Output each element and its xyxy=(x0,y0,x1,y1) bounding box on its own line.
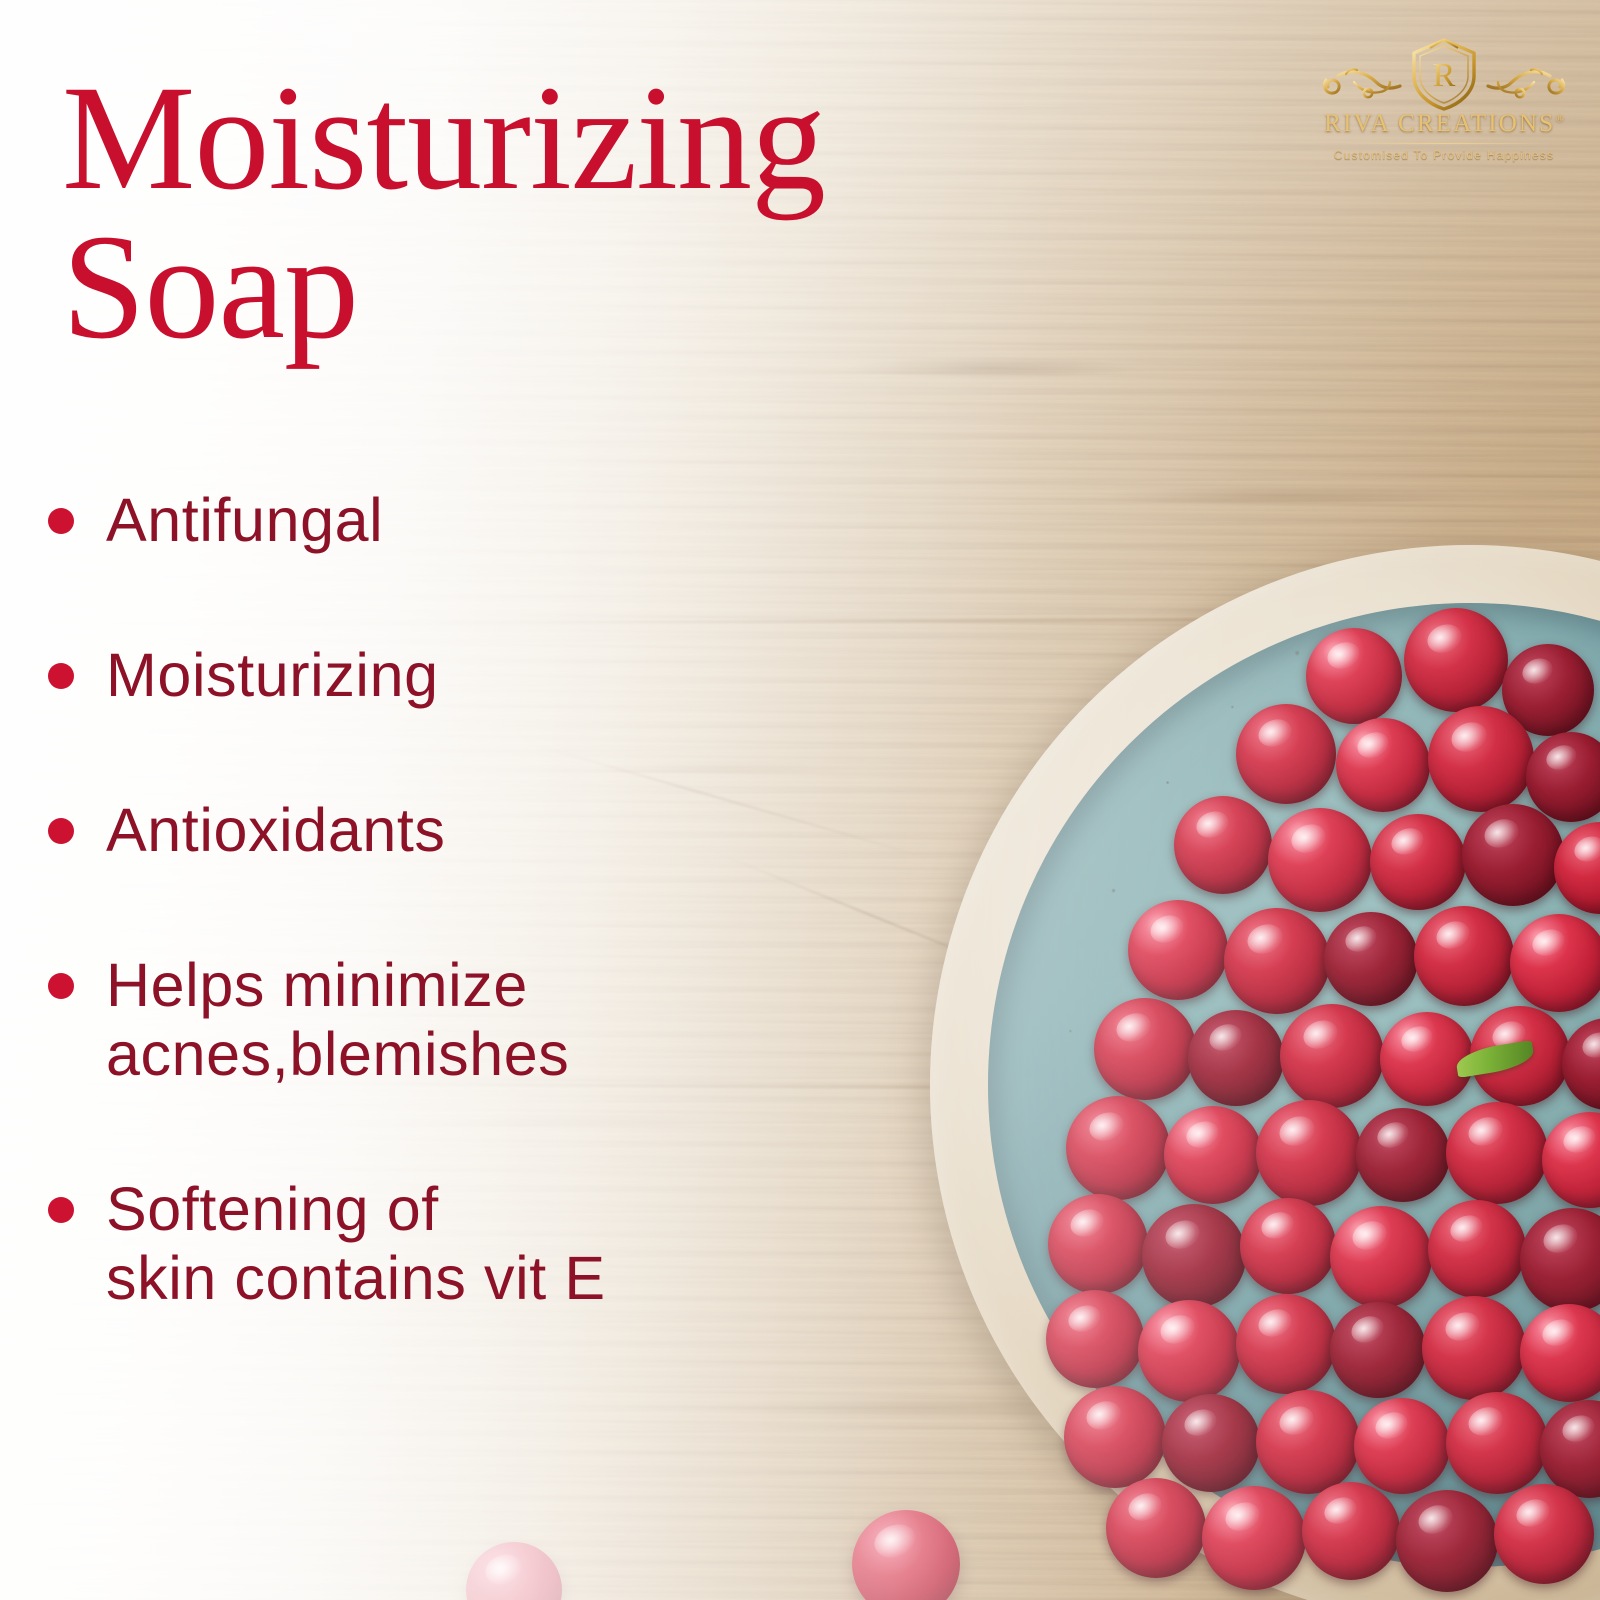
bullet-dot-icon xyxy=(48,508,74,534)
registered-trademark-icon: ® xyxy=(1555,113,1563,125)
page-title: Moisturizing Soap xyxy=(62,64,942,361)
logo-divider xyxy=(1338,143,1550,144)
benefit-item-acne: Helps minimize acnes,blemishes xyxy=(34,951,754,1089)
ornament-flourish-left xyxy=(1320,62,1406,106)
logo-monogram: R xyxy=(1433,57,1456,94)
ornament-flourish-right xyxy=(1482,62,1568,106)
benefit-label: Antioxidants xyxy=(106,796,446,865)
title-line-1: Moisturizing xyxy=(62,64,942,213)
shield-icon: R xyxy=(1408,36,1480,112)
bullet-dot-icon xyxy=(48,663,74,689)
benefit-label: Moisturizing xyxy=(106,641,439,710)
logo-mark: R xyxy=(1310,34,1578,112)
bullet-dot-icon xyxy=(48,1197,74,1223)
benefit-item-moisturizing: Moisturizing xyxy=(34,641,754,710)
title-line-2: Soap xyxy=(62,213,942,362)
benefit-label: Softening of skin contains vit E xyxy=(106,1175,606,1313)
bullet-dot-icon xyxy=(48,973,74,999)
benefit-label: Helps minimize acnes,blemishes xyxy=(106,951,569,1089)
benefits-list: Antifungal Moisturizing Antioxidants Hel… xyxy=(34,486,754,1312)
benefit-item-antioxidants: Antioxidants xyxy=(34,796,754,865)
logo-brand-text: RIVA CREATIONS xyxy=(1324,110,1555,137)
bullet-dot-icon xyxy=(48,818,74,844)
benefit-item-softening: Softening of skin contains vit E xyxy=(34,1175,754,1313)
benefit-label: Antifungal xyxy=(106,486,383,555)
logo-tagline: Customised To Provide Happiness xyxy=(1310,148,1578,162)
soap-promo-poster: Moisturizing Soap Antifungal Moisturizin… xyxy=(0,0,1600,1600)
benefit-item-antifungal: Antifungal xyxy=(34,486,754,555)
logo-brand-name: RIVA CREATIONS® xyxy=(1324,110,1563,138)
brand-logo: R RIVA CREATIONS® Custo xyxy=(1310,34,1578,174)
